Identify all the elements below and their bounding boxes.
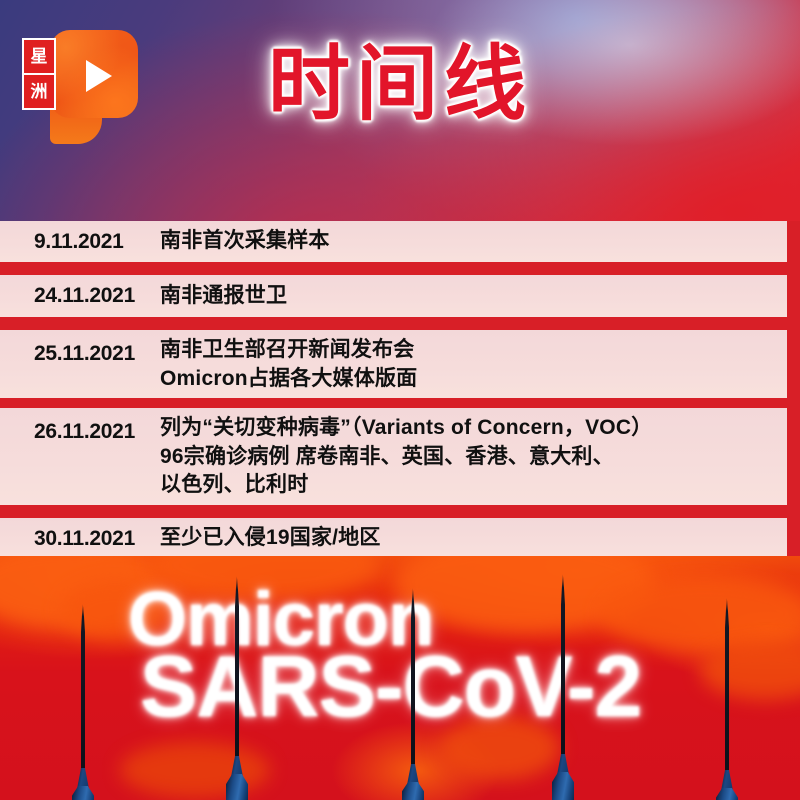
flame-shape bbox=[150, 556, 380, 600]
timeline-text: 南非卫生部召开新闻发布会 Omicron占据各大媒体版面 bbox=[160, 325, 787, 403]
timeline-row: 26.11.2021 列为“关切变种病毒”（Variants of Concer… bbox=[0, 408, 787, 505]
timeline-section: 9.11.2021 南非首次采集样本 24.11.2021 南非通报世卫 25.… bbox=[0, 221, 800, 559]
syringe-needle bbox=[235, 576, 239, 768]
syringe-hub bbox=[552, 772, 574, 800]
syringe-needle bbox=[411, 588, 415, 776]
virus-artwork: Omicron SARS-CoV-2 bbox=[0, 556, 800, 800]
timeline-row: 30.11.2021 至少已入侵19国家/地区 bbox=[0, 518, 787, 559]
syringe-needle bbox=[725, 598, 729, 782]
syringe bbox=[222, 570, 252, 800]
virus-name-omicron: Omicron bbox=[128, 582, 434, 658]
timeline-text: 南非通报世卫 bbox=[160, 282, 787, 310]
timeline-line: 至少已入侵19国家/地区 bbox=[160, 524, 777, 552]
syringe-needle bbox=[81, 604, 85, 780]
timeline-line: 南非卫生部召开新闻发布会 bbox=[160, 336, 777, 364]
timeline-date: 30.11.2021 bbox=[0, 527, 160, 551]
syringe bbox=[68, 580, 98, 800]
flame-shape bbox=[600, 576, 800, 652]
syringe-hub bbox=[226, 774, 248, 800]
syringe-needle bbox=[561, 574, 565, 766]
syringe bbox=[548, 572, 578, 800]
timeline-line: Omicron占据各大媒体版面 bbox=[160, 365, 777, 393]
page-title: 时间线 bbox=[0, 44, 800, 126]
timeline-line: 列为“关切变种病毒”（Variants of Concern，VOC） bbox=[160, 414, 777, 442]
timeline-row: 25.11.2021 南非卫生部召开新闻发布会 Omicron占据各大媒体版面 bbox=[0, 330, 787, 398]
timeline-line: 南非通报世卫 bbox=[160, 282, 777, 310]
timeline-text: 列为“关切变种病毒”（Variants of Concern，VOC） 96宗确… bbox=[160, 403, 787, 509]
timeline-text: 至少已入侵19国家/地区 bbox=[160, 524, 787, 552]
timeline-date: 9.11.2021 bbox=[0, 230, 160, 254]
syringe-hub bbox=[72, 786, 94, 800]
timeline-row: 9.11.2021 南非首次采集样本 bbox=[0, 221, 787, 262]
flame-shape bbox=[440, 716, 560, 780]
timeline-line: 以色列、比利时 bbox=[160, 471, 777, 499]
timeline-date: 25.11.2021 bbox=[0, 330, 160, 366]
header-banner: 星 洲 时间线 bbox=[0, 0, 800, 221]
infographic-poster: 星 洲 时间线 9.11.2021 南非首次采集样本 24.11.2021 南非… bbox=[0, 0, 800, 800]
syringe-hub bbox=[716, 788, 738, 800]
syringe bbox=[712, 582, 742, 800]
syringe bbox=[398, 574, 428, 800]
timeline-line: 南非首次采集样本 bbox=[160, 227, 777, 255]
flame-shape bbox=[395, 556, 655, 632]
syringe-hub bbox=[402, 782, 424, 800]
timeline-text: 南非首次采集样本 bbox=[160, 227, 787, 255]
timeline-row: 24.11.2021 南非通报世卫 bbox=[0, 275, 787, 317]
timeline-date: 26.11.2021 bbox=[0, 408, 160, 444]
timeline-line: 96宗确诊病例 席卷南非、英国、香港、意大利、 bbox=[160, 443, 777, 471]
timeline-date: 24.11.2021 bbox=[0, 284, 160, 308]
